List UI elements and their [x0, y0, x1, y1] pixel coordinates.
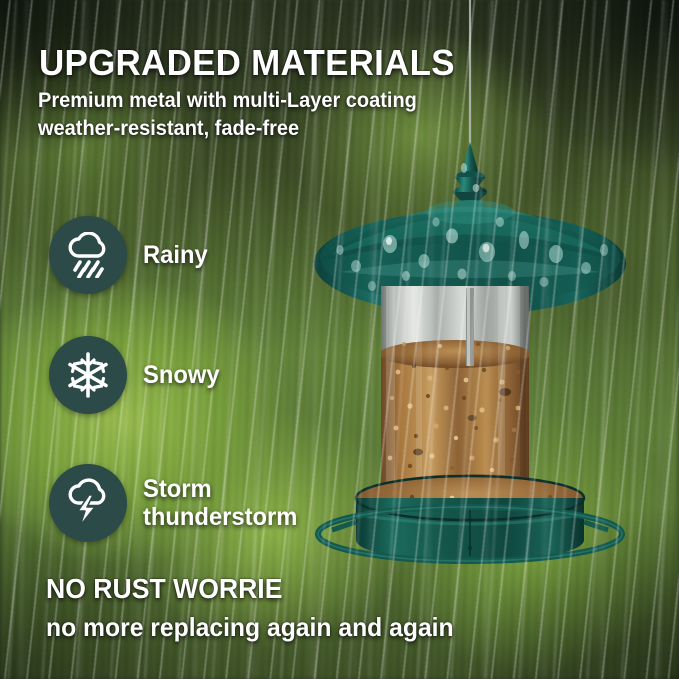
- product-marketing-image: UPGRADED MATERIALS Premium metal with mu…: [0, 0, 679, 679]
- subtitle-line-2: weather-resistant, fade-free: [38, 116, 299, 141]
- feature-item-snowy: Snowy: [49, 336, 224, 414]
- footer-subtitle: no more replacing again and again: [46, 612, 454, 643]
- feature-item-rainy: Rainy: [49, 216, 211, 294]
- page-title: UPGRADED MATERIALS: [39, 42, 455, 84]
- feature-label-rainy: Rainy: [143, 241, 208, 269]
- feature-label-snowy: Snowy: [143, 361, 220, 389]
- feature-label-storm-line-1: Storm: [143, 475, 297, 503]
- subtitle-line-1: Premium metal with multi-Layer coating: [38, 88, 417, 113]
- feature-label-storm: Storm thunderstorm: [143, 475, 297, 531]
- feature-item-storm: Storm thunderstorm: [49, 464, 306, 542]
- snowflake-icon: [49, 336, 127, 414]
- feature-label-storm-line-2: thunderstorm: [143, 503, 297, 531]
- thunderstorm-icon: [49, 464, 127, 542]
- rain-cloud-icon: [49, 216, 127, 294]
- footer-headline: NO RUST WORRIE: [46, 573, 282, 605]
